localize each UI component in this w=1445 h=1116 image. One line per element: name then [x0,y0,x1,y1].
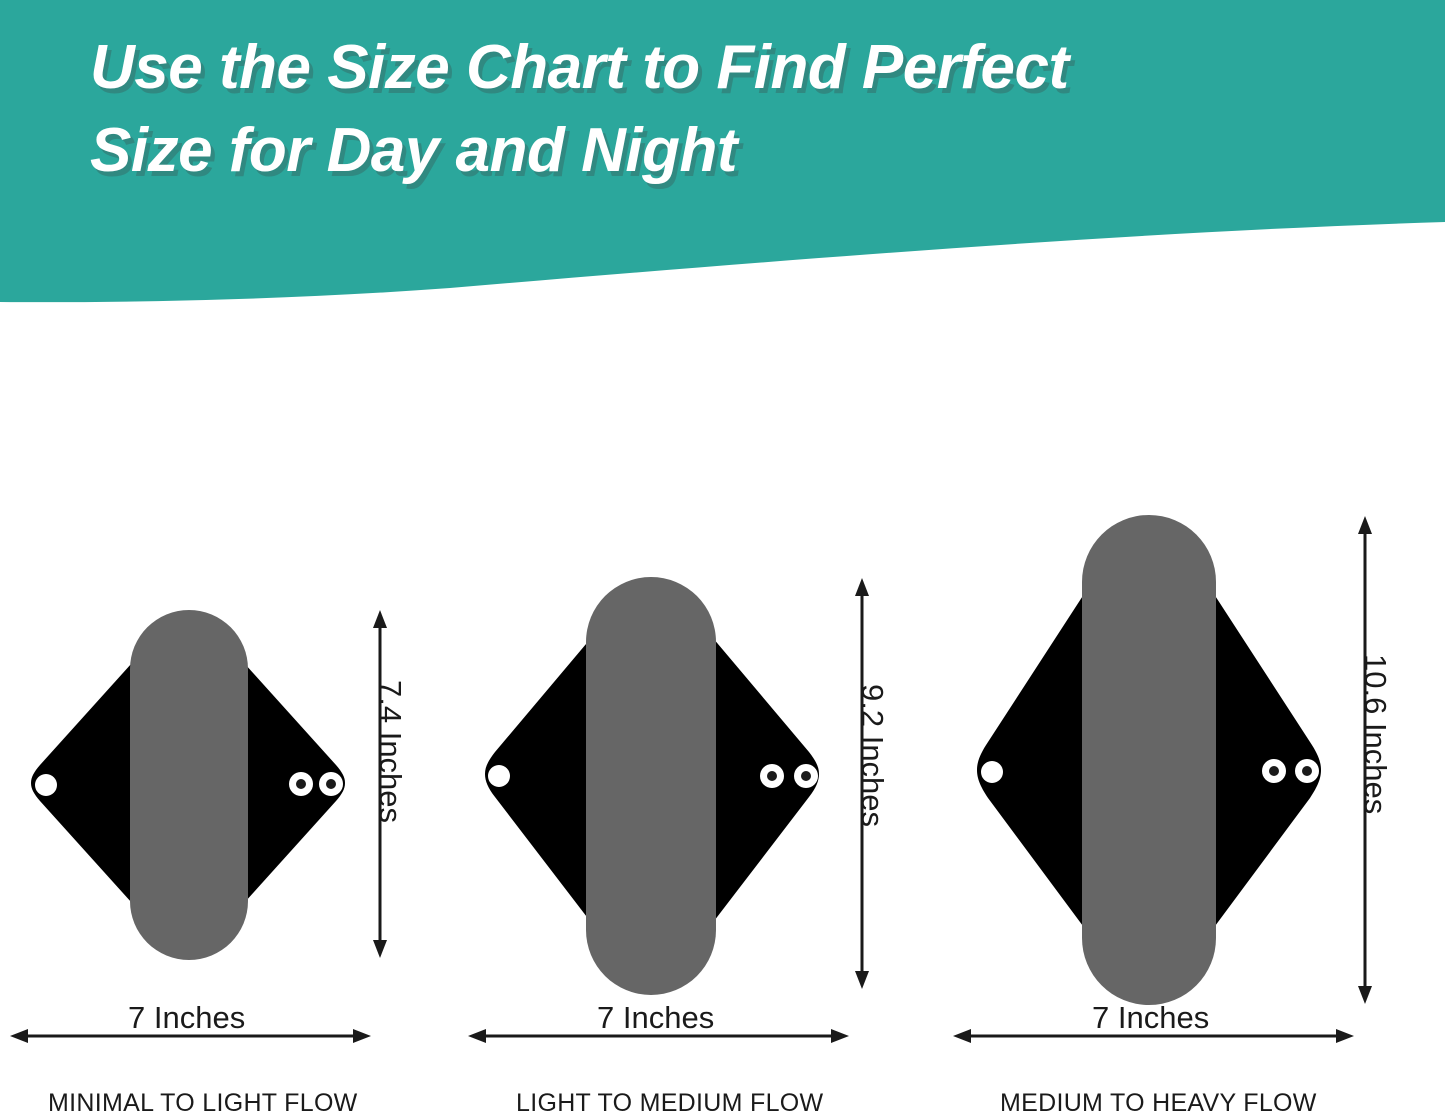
snap-left-small [35,774,57,796]
pad-insert-medium [586,577,716,995]
pad-shape-medium [466,572,838,1000]
pad-diagram-large [958,510,1340,1010]
flow-label-medium: LIGHT TO MEDIUM FLOW [516,1089,823,1116]
snap-left-medium [488,765,510,787]
width-label-medium: 7 Inches [597,1000,714,1036]
pad-shape-large [958,510,1340,1010]
height-label-medium: 9.2 Inches [854,684,890,827]
size-chart-infographic: Use the Size Chart to Find Perfect Size … [0,0,1445,1116]
pad-shape-small [18,605,363,965]
pad-insert-large [1082,515,1216,1005]
flow-label-large: MEDIUM TO HEAVY FLOW [1000,1089,1317,1116]
height-label-large: 10.6 Inches [1357,654,1393,814]
pad-insert-small [130,610,248,960]
flow-label-small: MINIMAL TO LIGHT FLOW [48,1089,358,1116]
pad-diagram-small [18,605,363,965]
width-label-small: 7 Inches [128,1000,245,1036]
snap-left-large [981,761,1003,783]
pad-diagrams-area: 7.4 Inches 7 Inches MINIMAL TO LIGHT FLO… [0,0,1445,1116]
pad-diagram-medium [466,572,838,1000]
height-label-small: 7.4 Inches [372,680,408,823]
width-label-large: 7 Inches [1092,1000,1209,1036]
